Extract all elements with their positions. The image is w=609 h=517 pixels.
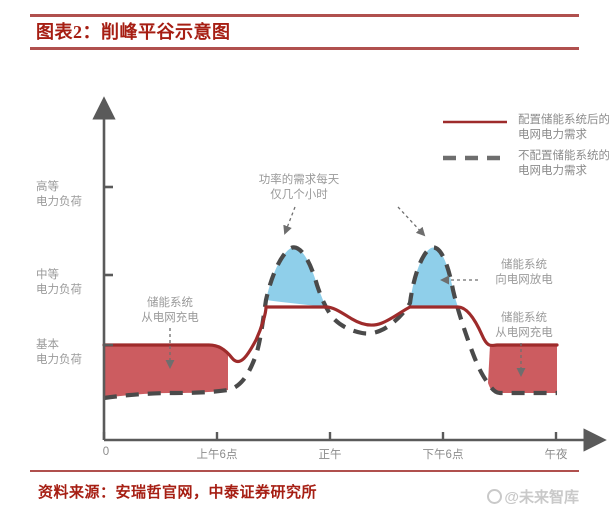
y-axis-label-medium: 中等 电力负荷 [36, 268, 82, 298]
legend-item-with-storage: 配置储能系统后的 电网电力需求 [518, 113, 609, 143]
x-axis-label-6pm: 下午6点 [408, 446, 478, 462]
watermark-logo-icon [487, 489, 502, 504]
annotation-discharge-right: 储能系统 向电网放电 [495, 258, 553, 288]
legend-item-without-storage: 不配置储能系统的 电网电力需求 [518, 149, 609, 179]
discharge-region-midday [266, 247, 326, 307]
leader-peak-evening [398, 207, 424, 235]
charge-region-morning [104, 345, 228, 398]
source-note: 资料来源：安瑞哲官网，中泰证券研究所 [38, 481, 317, 502]
y-axis-label-base: 基本 电力负荷 [36, 338, 82, 368]
x-axis-label-6am: 上午6点 [182, 446, 252, 462]
y-axis-label-high: 高等 电力负荷 [36, 180, 82, 210]
watermark-text: @未来智库 [504, 486, 579, 507]
x-axis-label-noon: 正午 [305, 446, 355, 462]
leader-peak-midday [285, 207, 295, 233]
charge-region-night [488, 345, 557, 393]
x-axis-label-0: 0 [96, 446, 116, 458]
title-rule-top [30, 14, 579, 17]
annotation-peak-duration: 功率的需求每天 仅几个小时 [259, 173, 340, 203]
page-title: 图表2：削峰平谷示意图 [36, 18, 231, 44]
annotation-charge-left: 储能系统 从电网充电 [141, 296, 199, 326]
x-axis-label-midnight: 午夜 [531, 446, 581, 462]
title-rule-bottom [30, 47, 579, 50]
annotation-charge-right: 储能系统 从电网充电 [495, 311, 553, 341]
chart-canvas: 高等 电力负荷 中等 电力负荷 基本 电力负荷 0 上午6点 正午 下午6点 午… [0, 55, 609, 465]
figure-title-block: 图表2：削峰平谷示意图 [30, 14, 579, 50]
figure-footer-block: 资料来源：安瑞哲官网，中泰证券研究所 @未来智库 [30, 470, 579, 510]
watermark: @未来智库 [487, 486, 579, 507]
footer-rule [30, 470, 579, 472]
